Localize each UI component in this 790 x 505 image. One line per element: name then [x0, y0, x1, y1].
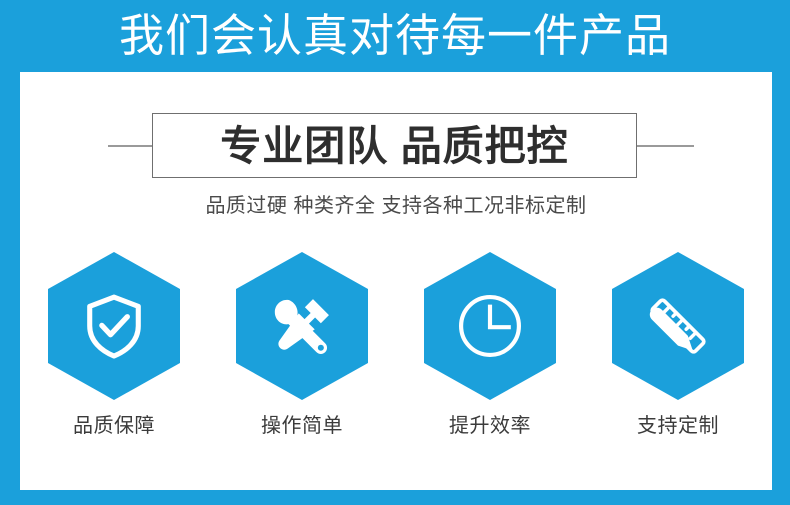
- ruler-pen-icon: [641, 289, 715, 363]
- wrench-hammer-icon: [265, 289, 339, 363]
- content-panel: 专业团队 品质把控 品质过硬 种类齐全 支持各种工况非标定制 品质保障: [20, 72, 772, 490]
- panel-subtitle: 品质过硬 种类齐全 支持各种工况非标定制: [20, 192, 772, 220]
- clock-icon: [453, 289, 527, 363]
- feature-item-quality: 品质保障: [34, 252, 194, 439]
- main-title: 专业团队 品质把控: [220, 122, 568, 170]
- feature-item-customization: 支持定制: [598, 252, 758, 439]
- hexagon-badge: [424, 252, 556, 400]
- banner-heading: 我们会认真对待每一件产品: [0, 6, 790, 66]
- feature-label: 品质保障: [73, 413, 155, 439]
- title-band: 专业团队 品质把控: [20, 113, 772, 179]
- promo-banner: 我们会认真对待每一件产品 专业团队 品质把控 品质过硬 种类齐全 支持各种工况非…: [0, 0, 790, 505]
- hexagon-badge: [612, 252, 744, 400]
- feature-label: 操作简单: [261, 413, 343, 439]
- hexagon-badge: [236, 252, 368, 400]
- title-box: 专业团队 品质把控: [152, 113, 637, 178]
- feature-label: 提升效率: [449, 413, 531, 439]
- feature-list: 品质保障 操作简单: [20, 252, 772, 439]
- shield-check-icon: [77, 289, 151, 363]
- feature-item-efficiency: 提升效率: [410, 252, 570, 439]
- hexagon-badge: [48, 252, 180, 400]
- feature-item-easy-operation: 操作简单: [222, 252, 382, 439]
- feature-label: 支持定制: [637, 413, 719, 439]
